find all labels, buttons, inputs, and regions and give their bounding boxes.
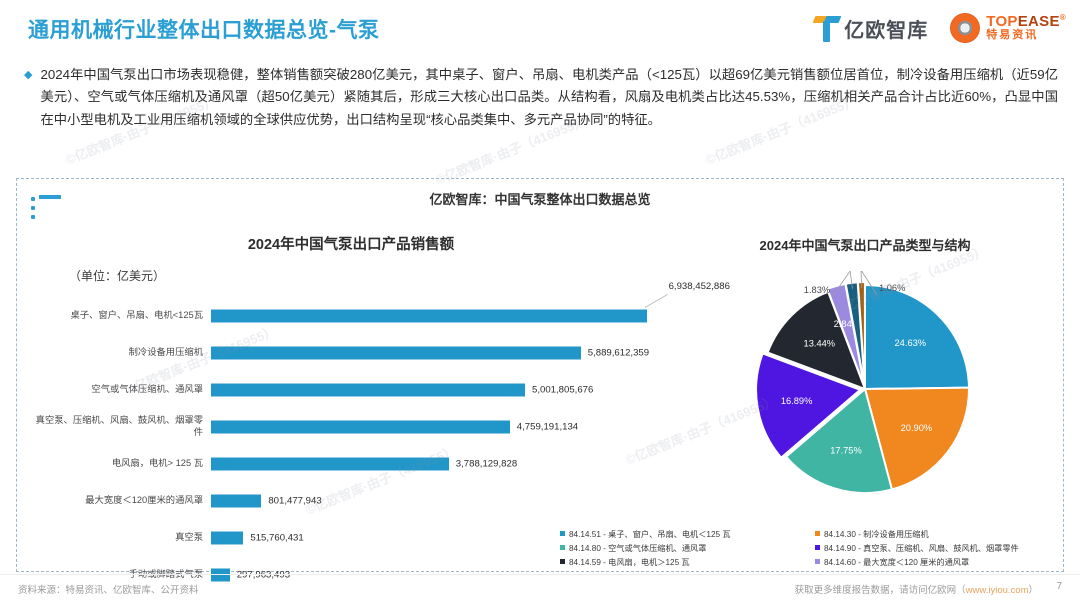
bar-track: 5,001,805,676 bbox=[211, 371, 671, 408]
bar-row: 电风扇，电机> 125 瓦3,788,129,828 bbox=[31, 445, 671, 482]
footer-cta-url[interactable]: www.iyiou.com bbox=[966, 585, 1029, 596]
bar-fill[interactable] bbox=[211, 420, 510, 433]
bar-category-label: 桌子、窗户、吊扇、电机<125瓦 bbox=[31, 310, 211, 322]
legend-swatch bbox=[815, 559, 820, 564]
legend-label: 84.14.90 - 真空泵、压缩机、风扇、鼓风机、烟罩零件 bbox=[824, 542, 1019, 554]
slide-header: 通用机械行业整体出口数据总览-气泵 亿欧智库 TOPEASE® 特易资讯 bbox=[0, 0, 1080, 58]
legend-label: 84.14.80 - 空气或气体压缩机、通风罩 bbox=[569, 542, 706, 554]
bar-track: 6,938,452,886 bbox=[211, 297, 671, 334]
page-title: 通用机械行业整体出口数据总览-气泵 bbox=[28, 14, 380, 44]
footer-cta: 获取更多维度报告数据，请访问亿欧网（www.iyiou.com） bbox=[795, 582, 1038, 596]
bar-value-label: 3,788,129,828 bbox=[456, 458, 517, 469]
legend-label: 84.14.60 - 最大宽度＜120 厘米的通风罩 bbox=[824, 556, 969, 568]
bar-category-label: 真空泵 bbox=[31, 532, 211, 544]
yiou-zhiku-logo-text: 亿欧智库 bbox=[844, 14, 928, 43]
pie-slice-label: 17.75% bbox=[830, 446, 862, 456]
legend-item[interactable]: 84.14.59 - 电风扇，电机＞125 瓦 bbox=[560, 556, 805, 568]
pie-svg: 24.63%20.90%17.75%16.89%13.44%2.84%1.83%… bbox=[729, 271, 1001, 501]
bar-category-label: 制冷设备用压缩机 bbox=[31, 347, 211, 359]
legend-swatch bbox=[560, 545, 565, 550]
bar-value-label: 515,760,431 bbox=[250, 532, 303, 543]
legend-label: 84.14.51 - 桌子、窗户、吊扇、电机＜125 瓦 bbox=[569, 528, 731, 540]
legend-item[interactable]: 84.14.30 - 制冷设备用压缩机 bbox=[815, 528, 1060, 540]
legend-swatch bbox=[560, 531, 565, 536]
yiou-zhiku-logo: 亿欧智库 bbox=[814, 14, 928, 43]
legend-label: 84.14.30 - 制冷设备用压缩机 bbox=[824, 528, 929, 540]
bar-row: 制冷设备用压缩机5,889,612,359 bbox=[31, 334, 671, 371]
bar-category-label: 最大宽度＜120厘米的通风罩 bbox=[31, 495, 211, 507]
topease-logo-top: TOP bbox=[986, 13, 1017, 30]
logo-group: 亿欧智库 TOPEASE® 特易资讯 bbox=[814, 13, 1066, 43]
bar-category-label: 真空泵、压缩机、风扇、鼓风机、烟罩零件 bbox=[31, 415, 211, 438]
pie-slice-label: 13.44% bbox=[804, 338, 836, 348]
legend-label: 84.14.59 - 电风扇，电机＞125 瓦 bbox=[569, 556, 690, 568]
bar-fill[interactable] bbox=[211, 531, 243, 544]
intro-paragraph: 2024年中国气泵出口市场表现稳健，整体销售额突破280亿美元，其中桌子、窗户、… bbox=[40, 64, 1058, 131]
bar-track: 3,788,129,828 bbox=[211, 445, 671, 482]
bar-fill[interactable] bbox=[211, 494, 261, 507]
bar-row: 空气或气体压缩机、通风罩5,001,805,676 bbox=[31, 371, 671, 408]
legend-item[interactable]: 84.14.90 - 真空泵、压缩机、风扇、鼓风机、烟罩零件 bbox=[815, 542, 1060, 554]
pie-slice-label: 1.83% bbox=[804, 285, 830, 295]
bar-chart: 2024年中国气泵出口产品销售额 （单位：亿美元） 桌子、窗户、吊扇、电机<12… bbox=[31, 223, 671, 563]
bar-category-label: 电风扇，电机> 125 瓦 bbox=[31, 458, 211, 470]
bar-row: 桌子、窗户、吊扇、电机<125瓦6,938,452,886 bbox=[31, 297, 671, 334]
bar-value-label: 5,889,612,359 bbox=[588, 347, 649, 358]
page-number: 7 bbox=[1056, 581, 1062, 592]
pie-slice-label: 24.63% bbox=[895, 338, 927, 348]
bar-fill[interactable] bbox=[211, 383, 525, 396]
footer-cta-suffix: ） bbox=[1028, 585, 1038, 596]
bullet-diamond-icon: ◆ bbox=[24, 64, 32, 131]
chart-panel: 亿欧智库：中国气泵整体出口数据总览 2024年中国气泵出口产品销售额 （单位：亿… bbox=[16, 178, 1064, 572]
bar-track: 801,477,943 bbox=[211, 482, 671, 519]
bar-value-label: 4,759,191,134 bbox=[517, 421, 578, 432]
topease-logo-cn: 特易资讯 bbox=[986, 30, 1066, 42]
pie-slice-label: 1.06% bbox=[879, 283, 905, 293]
topease-mark-icon bbox=[950, 13, 980, 43]
footer-cta-prefix: 获取更多维度报告数据，请访问亿欧网（ bbox=[795, 585, 966, 596]
bar-category-label: 空气或气体压缩机、通风罩 bbox=[31, 384, 211, 396]
bar-chart-unit-label: （单位：亿美元） bbox=[69, 267, 165, 284]
bar-fill[interactable] bbox=[211, 346, 581, 359]
legend-swatch bbox=[815, 545, 820, 550]
bar-track: 5,889,612,359 bbox=[211, 334, 671, 371]
pie-slice-label: 20.90% bbox=[901, 423, 933, 433]
pie-chart-canvas: 24.63%20.90%17.75%16.89%13.44%2.84%1.83%… bbox=[729, 271, 1001, 501]
panel-title: 亿欧智库：中国气泵整体出口数据总览 bbox=[17, 189, 1063, 208]
footer-divider bbox=[0, 574, 1080, 575]
pie-chart: 2024年中国气泵出口产品类型与结构 24.63%20.90%17.75%16.… bbox=[677, 223, 1053, 563]
bar-fill[interactable] bbox=[211, 309, 647, 322]
bar-track: 4,759,191,134 bbox=[211, 408, 671, 445]
bar-value-label: 5,001,805,676 bbox=[532, 384, 593, 395]
legend-swatch bbox=[560, 559, 565, 564]
pie-chart-legend: 84.14.51 - 桌子、窗户、吊扇、电机＜125 瓦84.14.30 - 制… bbox=[560, 528, 1060, 568]
bar-row: 最大宽度＜120厘米的通风罩801,477,943 bbox=[31, 482, 671, 519]
legend-item[interactable]: 84.14.80 - 空气或气体压缩机、通风罩 bbox=[560, 542, 805, 554]
topease-logo-reg: ® bbox=[1060, 13, 1066, 22]
bar-fill[interactable] bbox=[211, 457, 449, 470]
bar-value-leader-line bbox=[644, 294, 667, 308]
bar-row: 真空泵、压缩机、风扇、鼓风机、烟罩零件4,759,191,134 bbox=[31, 408, 671, 445]
topease-logo-ease: EASE bbox=[1018, 13, 1060, 30]
footer-source: 资料来源：特易资讯、亿欧智库、公开资料 bbox=[18, 582, 199, 596]
pie-slice-label: 16.89% bbox=[781, 396, 813, 406]
intro-block: ◆ 2024年中国气泵出口市场表现稳健，整体销售额突破280亿美元，其中桌子、窗… bbox=[24, 64, 1058, 131]
topease-logo: TOPEASE® 特易资讯 bbox=[950, 13, 1066, 43]
bar-chart-title: 2024年中国气泵出口产品销售额 bbox=[31, 233, 671, 254]
pie-chart-title: 2024年中国气泵出口产品类型与结构 bbox=[677, 235, 1053, 254]
legend-item[interactable]: 84.14.60 - 最大宽度＜120 厘米的通风罩 bbox=[815, 556, 1060, 568]
pie-slice[interactable] bbox=[865, 285, 969, 389]
legend-item[interactable]: 84.14.51 - 桌子、窗户、吊扇、电机＜125 瓦 bbox=[560, 528, 805, 540]
legend-swatch bbox=[815, 531, 820, 536]
yiou-mark-icon bbox=[814, 14, 840, 42]
bar-value-label: 801,477,943 bbox=[268, 495, 321, 506]
